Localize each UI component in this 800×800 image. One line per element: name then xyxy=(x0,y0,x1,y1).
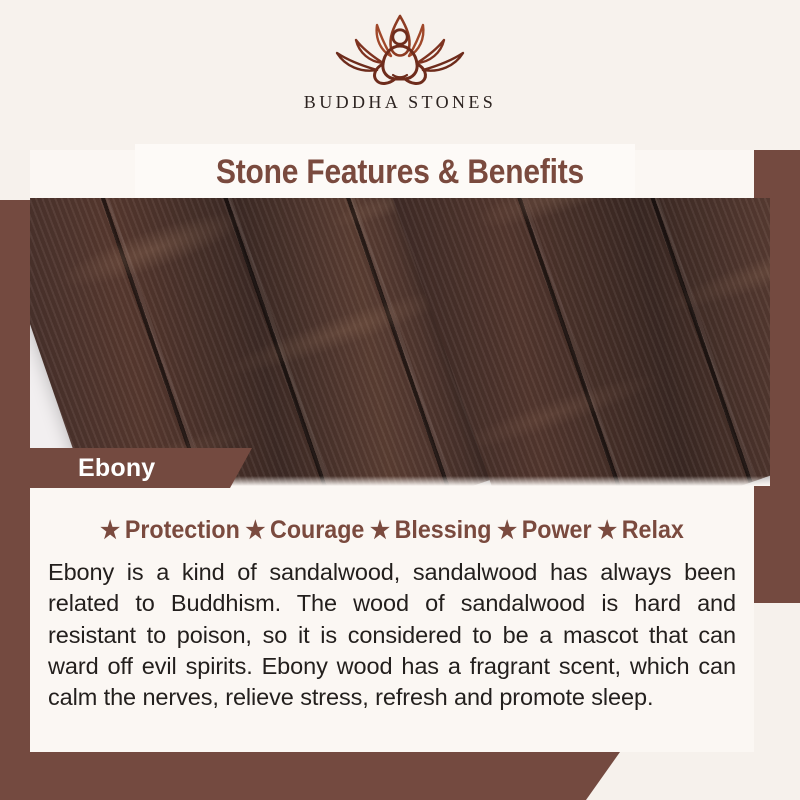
benefit-item: ★ Courage xyxy=(245,516,364,545)
product-photo xyxy=(30,198,770,486)
star-icon: ★ xyxy=(100,519,120,543)
product-label-banner: Ebony xyxy=(0,448,252,488)
lotus-meditation-figure-icon xyxy=(315,6,485,94)
benefit-item: ★ Protection xyxy=(100,516,240,545)
content-area: ★ Protection ★ Courage ★ Blessing ★ Powe… xyxy=(30,492,754,752)
benefit-label: Blessing xyxy=(395,516,492,545)
benefit-label: Courage xyxy=(270,516,364,545)
product-info-card: BUDDHA STONES Stone Features & Benefits … xyxy=(0,0,800,800)
benefit-item: ★ Power xyxy=(497,516,591,545)
brand-header: BUDDHA STONES xyxy=(0,0,800,150)
benefit-label: Protection xyxy=(125,516,240,545)
benefit-item: ★ Blessing xyxy=(370,516,492,545)
star-icon: ★ xyxy=(497,519,517,543)
star-icon: ★ xyxy=(370,519,390,543)
product-description: Ebony is a kind of sandalwood, sandalwoo… xyxy=(44,557,740,713)
benefit-label: Relax xyxy=(622,516,684,545)
brand-name: BUDDHA STONES xyxy=(304,92,496,113)
product-label: Ebony xyxy=(78,454,155,483)
star-icon: ★ xyxy=(245,519,265,543)
star-icon: ★ xyxy=(597,519,617,543)
benefits-row: ★ Protection ★ Courage ★ Blessing ★ Powe… xyxy=(68,516,715,545)
frame-band-bottom xyxy=(0,752,620,800)
benefit-item: ★ Relax xyxy=(597,516,684,545)
benefit-label: Power xyxy=(522,516,592,545)
page-title: Stone Features & Benefits xyxy=(48,146,752,198)
frame-band-left xyxy=(0,200,30,800)
